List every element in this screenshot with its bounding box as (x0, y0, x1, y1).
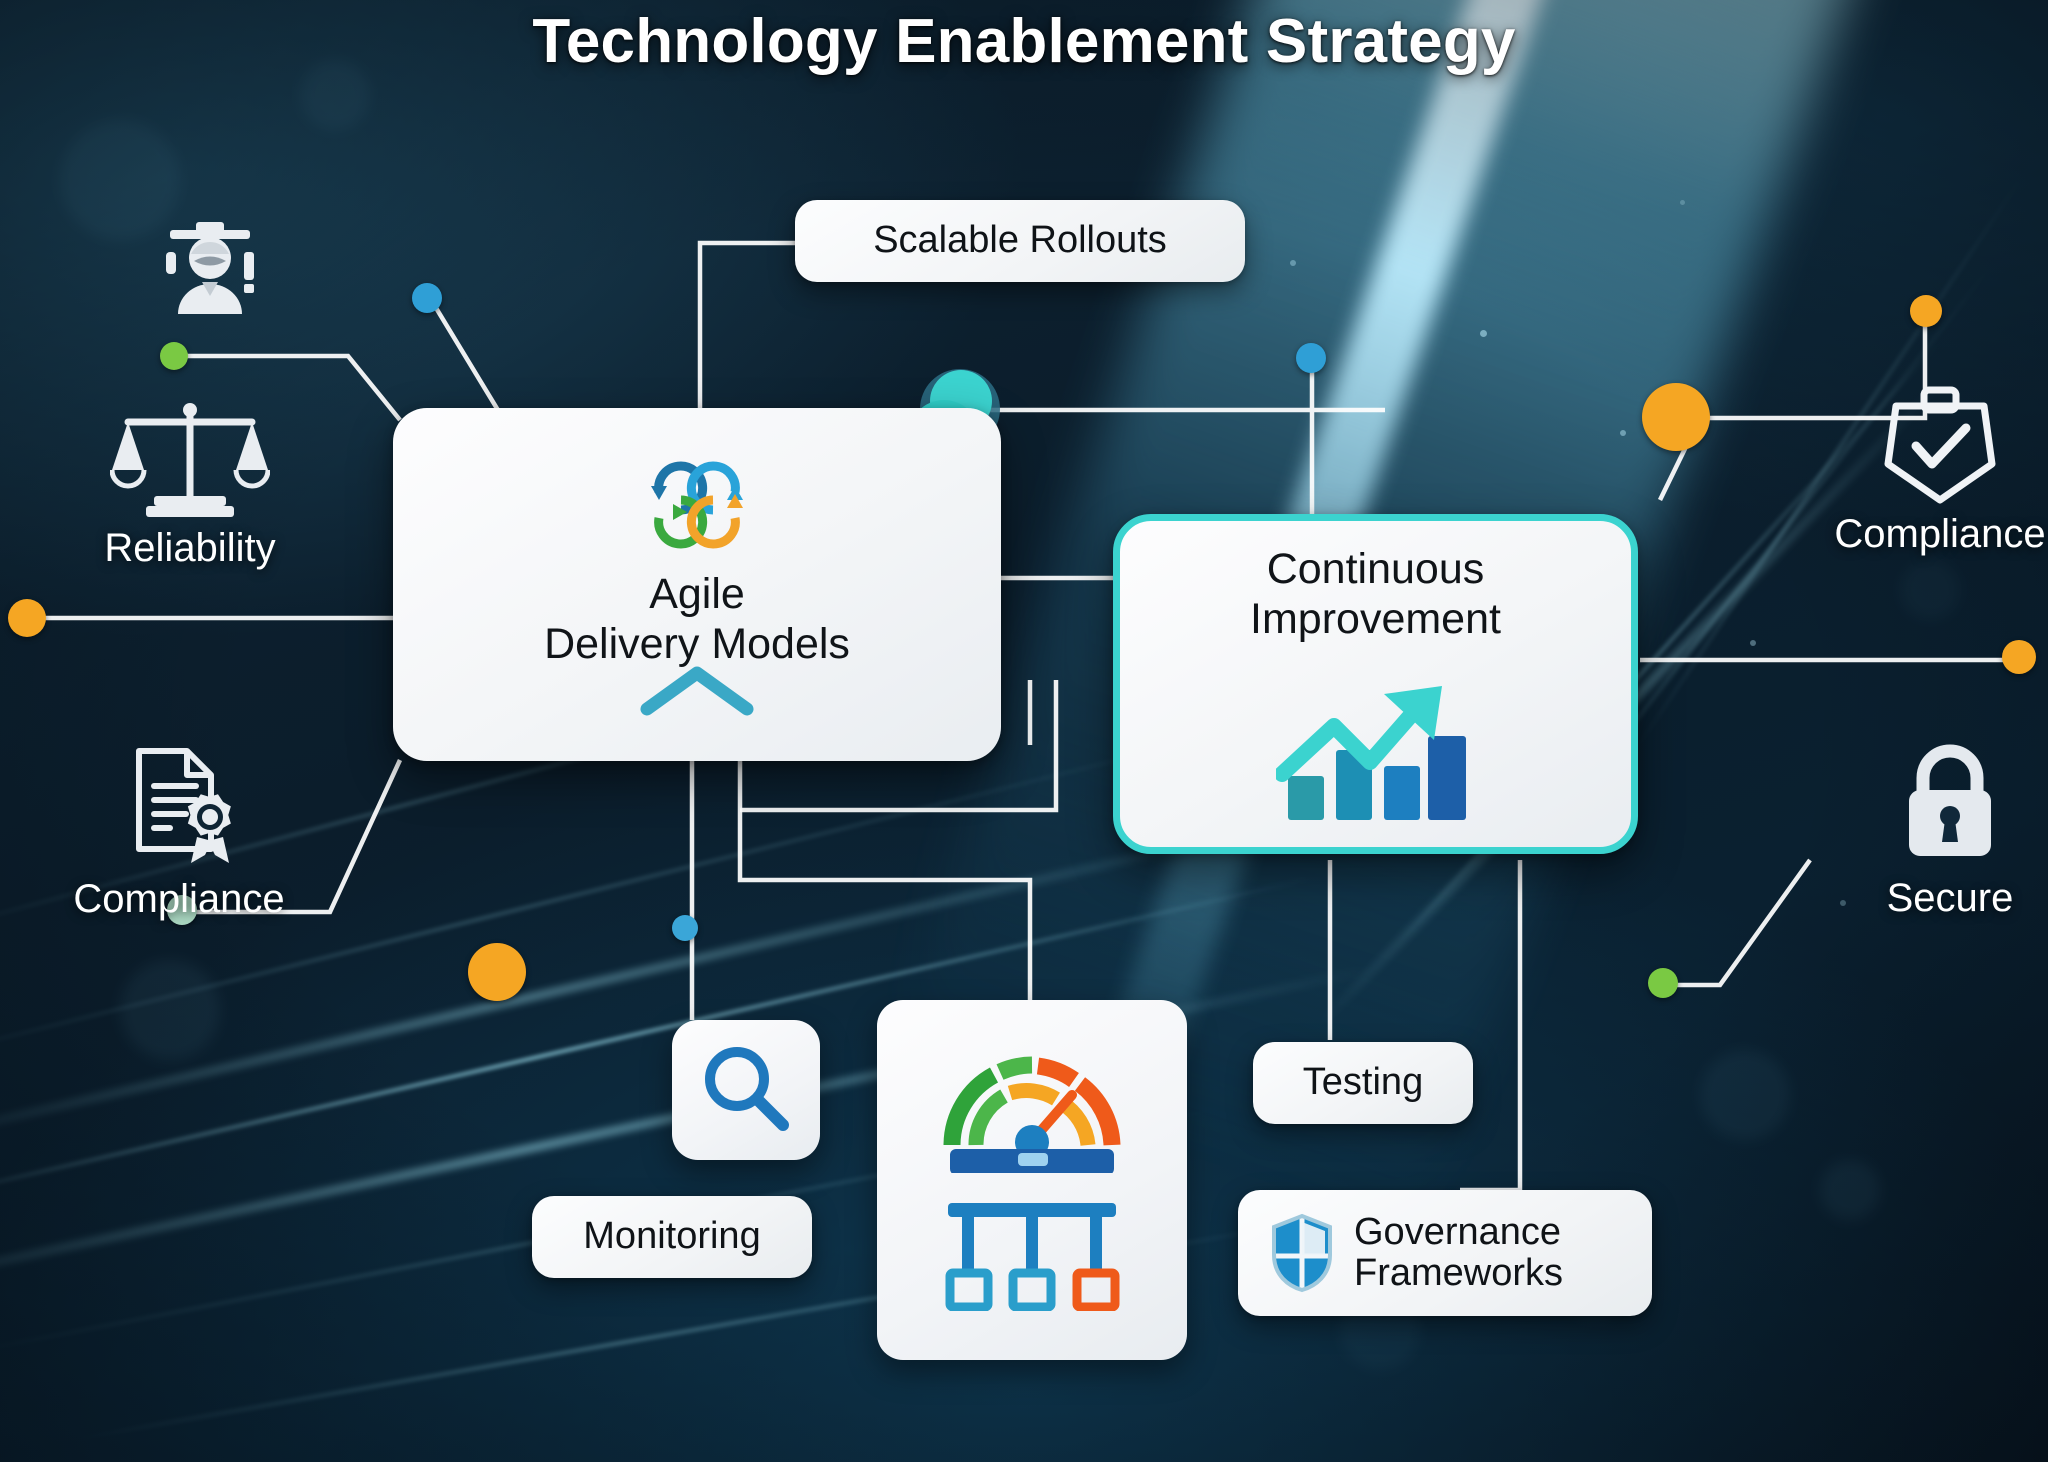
connector-dot-orange-left (8, 599, 46, 637)
pill-testing[interactable]: Testing (1253, 1042, 1473, 1124)
side-label-text: Reliability (60, 526, 320, 571)
card-title-line1: Agile (393, 570, 1001, 618)
pill-label: Monitoring (583, 1216, 760, 1257)
agile-cycle-icon (637, 450, 757, 560)
gauge-icon (934, 1049, 1130, 1173)
certificate-document-icon (109, 745, 249, 875)
pill-label: Scalable Rollouts (873, 220, 1167, 261)
connector-dot-green-left (160, 342, 188, 370)
padlock-icon (1895, 740, 2005, 870)
card-title-line1: Continuous (1120, 545, 1631, 593)
connector-dot-blue-mid (672, 915, 698, 941)
magnifier-icon (697, 1041, 795, 1139)
connector-dot-blue-center (1296, 343, 1326, 373)
pill-label: Testing (1303, 1062, 1423, 1103)
chevron-up-icon[interactable] (637, 663, 757, 719)
pill-label: Governance Frameworks (1354, 1212, 1563, 1294)
card-agile-delivery-models[interactable]: Agile Delivery Models (393, 408, 1001, 761)
hierarchy-icon (942, 1199, 1122, 1311)
pill-label-line2: Frameworks (1354, 1252, 1563, 1294)
scales-of-justice-icon (110, 400, 270, 520)
icon-card-search[interactable] (672, 1020, 820, 1160)
judge-graduate-icon (150, 222, 270, 317)
connector-dot-orange-right-top (1910, 295, 1942, 327)
card-continuous-improvement[interactable]: Continuous Improvement (1113, 514, 1638, 854)
connector-dot-orange-big-right (1642, 383, 1710, 451)
shield-icon (1268, 1212, 1336, 1294)
connector-dot-green-right (1648, 968, 1678, 998)
side-label-secure: Secure (1820, 740, 2048, 921)
pill-monitoring[interactable]: Monitoring (532, 1196, 812, 1278)
side-label-text: Compliance (44, 877, 314, 922)
decorative-judge-icon-group (150, 222, 290, 317)
pill-label-line1: Governance (1354, 1211, 1561, 1253)
connector-dot-orange-center (468, 943, 526, 1001)
pill-governance-frameworks[interactable]: Governance Frameworks (1238, 1190, 1652, 1316)
side-label-compliance-left: Compliance (44, 745, 314, 922)
infographic-canvas: Technology Enablement Strategy (0, 0, 2048, 1462)
side-label-compliance-right: Compliance (1790, 380, 2048, 557)
icon-card-gauge-hierarchy[interactable] (877, 1000, 1187, 1360)
connector-dot-blue-top-left (412, 283, 442, 313)
side-label-text: Secure (1820, 876, 2048, 921)
pill-scalable-rollouts[interactable]: Scalable Rollouts (795, 200, 1245, 282)
card-title-line2: Delivery Models (393, 620, 1001, 668)
side-label-text: Compliance (1790, 512, 2048, 557)
card-title-line2: Improvement (1120, 595, 1631, 643)
side-label-reliability: Reliability (60, 400, 320, 571)
shield-check-icon (1880, 380, 2000, 508)
connector-dot-orange-right-mid (2002, 640, 2036, 674)
growth-chart-icon (1276, 680, 1476, 825)
